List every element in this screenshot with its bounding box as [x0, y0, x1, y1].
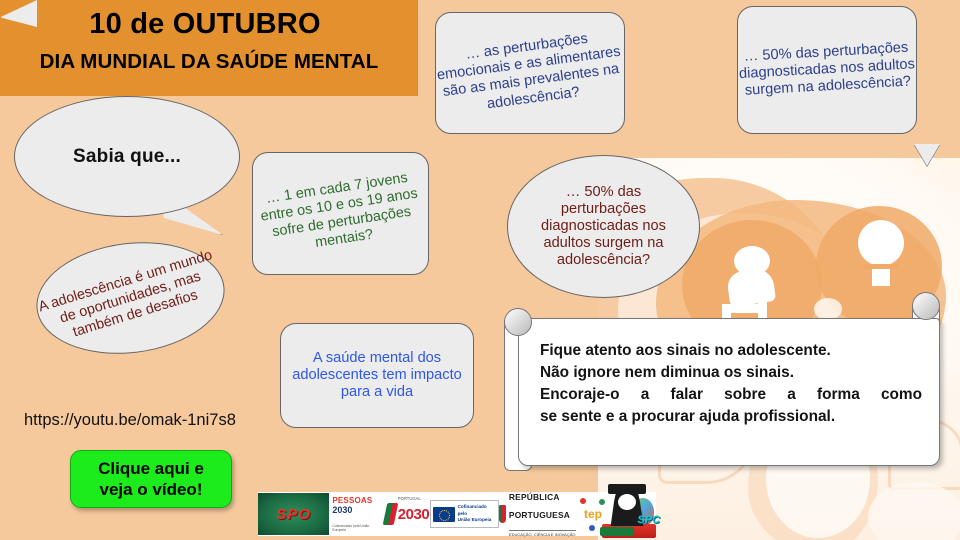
logo-rp-sub: EDUCAÇÃO, CIÊNCIA E INOVAÇÃO — [509, 530, 576, 537]
logo-pessoas-line2: 2030 — [332, 505, 352, 515]
advice-text: Fique atento aos sinais no adolescente. … — [540, 340, 922, 428]
tep-dot-1-icon — [580, 498, 586, 504]
perturbacoes-emocionais-bubble-tail — [914, 144, 940, 166]
cinquenta-porcento-topo-text: … 50% das perturbações diagnosticadas no… — [737, 39, 918, 101]
logo-uniao-europeia: Cofinanciado pelo União Europeia — [430, 500, 499, 528]
watch-video-button-label: Clique aqui e veja o vídeo! — [71, 458, 231, 501]
logo-eu-line2: União Europeia — [458, 517, 492, 522]
portuguese-coat-of-arms-icon — [499, 505, 506, 523]
portugal-flag-icon — [382, 503, 398, 525]
saude-mental-impacto-bubble: A saúde mental dos adolescentes tem impa… — [280, 323, 474, 428]
watermark-circle — [868, 482, 960, 540]
logo-spc-label: SPC — [637, 514, 660, 526]
eu-flag-icon — [433, 507, 454, 522]
adolescencia-mundo-bubble: A adolescência é um mundo de oportunidad… — [30, 232, 231, 364]
um-em-cada-sete-bubble: … 1 em cada 7 jovens entre os 10 e os 19… — [252, 152, 429, 275]
spc-hat-icon — [608, 484, 646, 494]
logo-spo: SPO — [258, 493, 329, 535]
advice-line-3: Encoraje-o a falar sobre a forma como — [540, 384, 922, 406]
cinquenta-porcento-topo-bubble: … 50% das perturbações diagnosticadas no… — [737, 6, 917, 134]
tep-dot-3-icon — [589, 525, 595, 531]
sponsor-logo-strip: SPO PESSOAS 2030 Cofinanciado pela União… — [258, 492, 656, 536]
advice-line-2: Não ignore nem diminua os sinais. — [540, 362, 922, 384]
watch-video-button[interactable]: Clique aqui e veja o vídeo! — [70, 450, 232, 508]
perturbacoes-emocionais-bubble: … as perturbações emocionais e as alimen… — [435, 12, 625, 134]
logo-pessoas-line1: PESSOAS — [332, 496, 372, 505]
lightbulb-icon — [850, 220, 912, 296]
spc-book2-icon — [600, 527, 634, 536]
logo-rp-line1: REPÚBLICA — [509, 492, 560, 502]
um-em-cada-sete-text: … 1 em cada 7 jovens entre os 10 e os 19… — [249, 167, 432, 260]
logo-spo-label: SPO — [276, 506, 311, 523]
perturbacoes-emocionais-text: … as perturbações emocionais e as alimen… — [432, 27, 627, 120]
poster-canvas: 10 de OUTUBRO DIA MUNDIAL DA SAÚDE MENTA… — [0, 0, 960, 540]
scroll-roll-left-icon — [504, 308, 532, 336]
video-url-link[interactable]: https://youtu.be/omak-1ni7s8 — [24, 411, 236, 430]
cta-line-1: Clique aqui e — [98, 459, 204, 478]
logo-eu-text: Cofinanciado pelo União Europeia — [458, 504, 497, 524]
logo-rp-text: REPÚBLICA PORTUGUESA EDUCAÇÃO, CIÊNCIA E… — [509, 487, 576, 540]
cinquenta-porcento-centro-bubble: … 50% das perturbações diagnosticadas no… — [507, 155, 700, 298]
logo-eu-line1: Cofinanciado pelo — [458, 504, 487, 516]
sabia-que-text: Sabia que... — [15, 145, 239, 167]
adolescencia-mundo-text: A adolescência é um mundo de oportunidad… — [34, 246, 228, 349]
advice-line-1: Fique atento aos sinais no adolescente. — [540, 340, 922, 362]
title-banner: 10 de OUTUBRO DIA MUNDIAL DA SAÚDE MENTA… — [0, 0, 418, 96]
page-subtitle: DIA MUNDIAL DA SAÚDE MENTAL — [8, 50, 410, 74]
cta-line-2: veja o vídeo! — [100, 480, 203, 499]
advice-scroll: Fique atento aos sinais no adolescente. … — [500, 310, 940, 464]
page-title: 10 de OUTUBRO — [0, 8, 410, 41]
logo-pessoas-2030: PESSOAS 2030 Cofinanciado pela União Eur… — [329, 494, 383, 534]
logo-portugal-2030: PORTUGAL 2030 — [384, 494, 430, 534]
logo-spc: SPC — [600, 486, 658, 538]
logo-pessoas-sub: Cofinanciado pela União Europeia — [332, 524, 383, 532]
logo-republica-portuguesa: REPÚBLICA PORTUGUESA EDUCAÇÃO, CIÊNCIA E… — [499, 494, 576, 534]
advice-line-4: se sente e a procurar ajuda profissional… — [540, 406, 922, 428]
spc-face-icon — [618, 494, 636, 510]
scroll-roll-right-icon — [912, 292, 940, 320]
logo-rp-line2: PORTUGUESA — [509, 510, 570, 520]
logo-portugal-label: 2030 — [398, 506, 429, 523]
sabia-que-bubble: Sabia que... — [14, 96, 240, 217]
logo-portugal-caption: PORTUGAL — [398, 496, 421, 501]
cinquenta-porcento-centro-text: … 50% das perturbações diagnosticadas no… — [508, 183, 699, 269]
saude-mental-impacto-text: A saúde mental dos adolescentes tem impa… — [281, 350, 473, 402]
